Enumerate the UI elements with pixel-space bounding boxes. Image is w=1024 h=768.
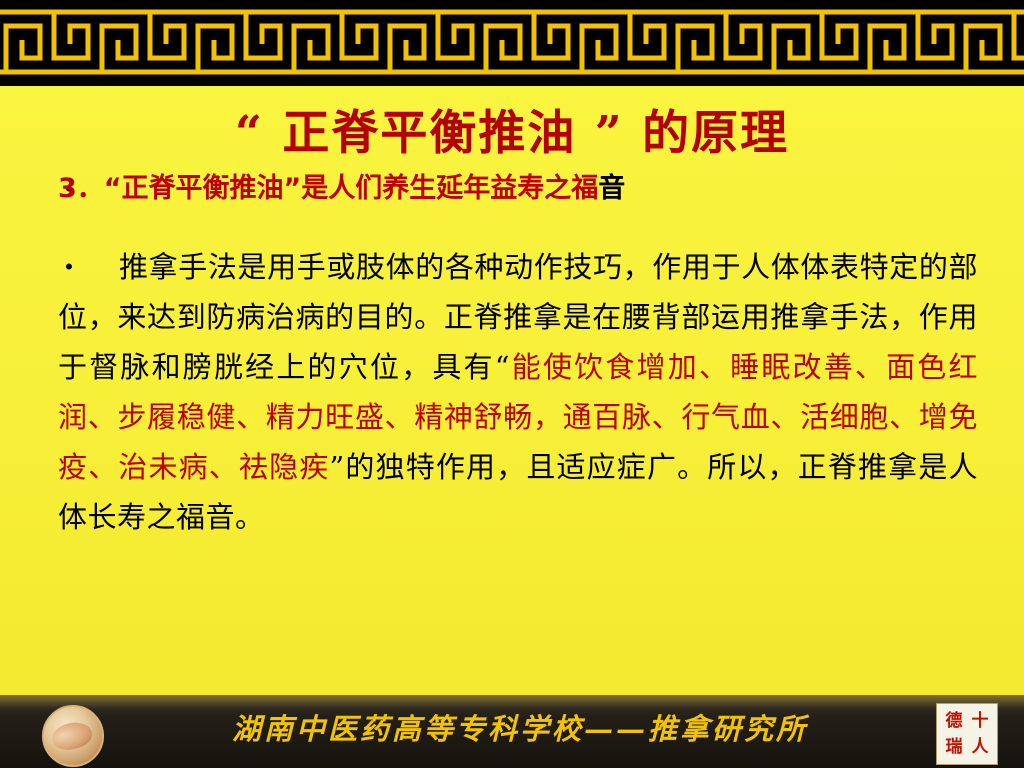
body-paragraph: 推拿手法是用手或肢体的各种动作技巧，作用于人体体表特定的部位，来达到防病治病的目…	[58, 242, 978, 542]
body-paragraph-row: • 推拿手法是用手或肢体的各种动作技巧，作用于人体体表特定的部位，来达到防病治病…	[0, 242, 1024, 542]
bullet-item-3-black-run: 音	[598, 173, 625, 204]
seal-char-2: 十	[967, 708, 993, 734]
seal-char-1: 德	[941, 708, 967, 734]
seal-char-3: 瑞	[941, 734, 967, 760]
seal-char-4: 人	[967, 734, 993, 760]
hand-shape	[50, 719, 95, 753]
bullet-list: • 3．“正脊平衡推油”是人们养生延年益寿之福音 • 推拿手法是用手或肢体的各种…	[0, 172, 1024, 542]
bullet-item-3: • 3．“正脊平衡推油”是人们养生延年益寿之福音	[0, 172, 1024, 212]
seal-characters: 德 十 瑞 人	[941, 708, 993, 760]
slide-content-panel: “ 正脊平衡推油 ” 的原理 • 3．“正脊平衡推油”是人们养生延年益寿之福音 …	[0, 86, 1024, 695]
seal-stamp-icon: 德 十 瑞 人	[936, 703, 998, 765]
bullet-item-3-text: 3．“正脊平衡推油”是人们养生延年益寿之福音	[58, 172, 978, 206]
slide: “ 正脊平衡推油 ” 的原理 • 3．“正脊平衡推油”是人们养生延年益寿之福音 …	[0, 0, 1024, 768]
hand-massage-logo-icon	[42, 705, 104, 767]
meander-pattern-icon	[0, 0, 1024, 86]
footer-institution-text: 湖南中医药高等专科学校——推拿研究所	[150, 706, 890, 748]
footer-bar: 湖南中医药高等专科学校——推拿研究所	[0, 695, 1024, 768]
bullet-item-3-red-run: 3．“正脊平衡推油”是人们养生延年益寿之福	[58, 173, 598, 204]
slide-title: “ 正脊平衡推油 ” 的原理	[0, 94, 1024, 163]
top-decorative-border	[0, 0, 1024, 86]
